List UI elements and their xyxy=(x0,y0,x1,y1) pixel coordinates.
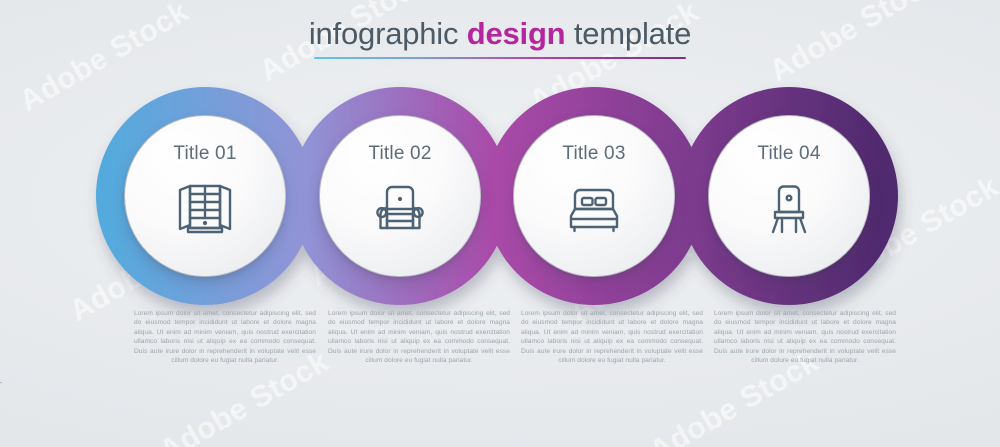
title-text-part1: infographic xyxy=(309,16,467,51)
page-title: infographic design template xyxy=(0,16,1000,52)
title-underline-rule xyxy=(314,57,686,59)
infographic-canvas: Adobe Stock Adobe Stock Adobe Stock Adob… xyxy=(0,0,1000,447)
step-title-3: Title 03 xyxy=(514,143,674,165)
step-description-4: Lorem ipsum dolor sit amet, consectetur … xyxy=(714,309,896,365)
step-title-1: Title 01 xyxy=(125,143,285,165)
armchair-icon xyxy=(320,176,480,240)
bed-icon xyxy=(514,176,674,240)
step-title-4: Title 04 xyxy=(709,143,869,165)
step-card-2[interactable]: Title 02 xyxy=(320,116,480,276)
step-description-3: Lorem ipsum dolor sit amet, consectetur … xyxy=(521,309,703,365)
step-card-1[interactable]: Title 01 xyxy=(125,116,285,276)
header: infographic design template xyxy=(0,16,1000,59)
chair-icon xyxy=(709,176,869,240)
step-card-3[interactable]: Title 03 xyxy=(514,116,674,276)
step-description-2: Lorem ipsum dolor sit amet, consectetur … xyxy=(328,309,510,365)
wardrobe-icon xyxy=(125,176,285,240)
title-text-part2: template xyxy=(565,16,691,51)
step-card-4[interactable]: Title 04 xyxy=(709,116,869,276)
description-row: Lorem ipsum dolor sit amet, consectetur … xyxy=(0,309,1000,409)
title-text-strong: design xyxy=(467,16,566,51)
step-description-1: Lorem ipsum dolor sit amet, consectetur … xyxy=(134,309,316,365)
step-title-2: Title 02 xyxy=(320,143,480,165)
